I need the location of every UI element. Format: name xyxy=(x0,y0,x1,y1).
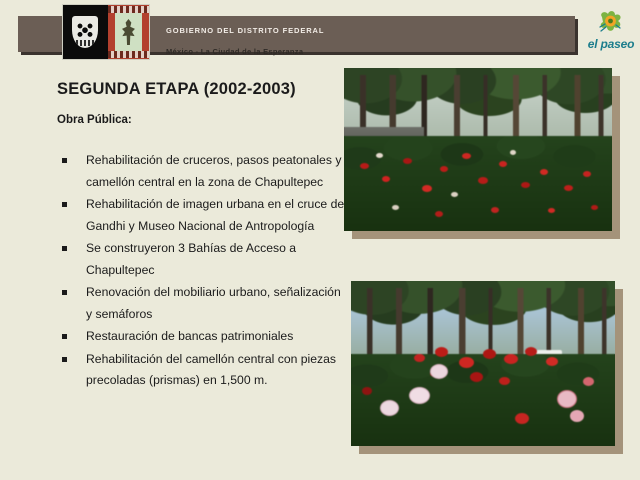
list-item: Rehabilitación del camellón central con … xyxy=(57,349,347,392)
square-bullet-icon xyxy=(62,158,67,163)
photo-geranium-closeup xyxy=(351,281,615,446)
list-item: Rehabilitación de cruceros, pasos peaton… xyxy=(57,150,347,193)
square-bullet-icon xyxy=(62,334,67,339)
square-bullet-icon xyxy=(62,246,67,251)
list-item-text: Restauración de bancas patrimoniales xyxy=(86,329,293,343)
el-paseo-wordmark: el paseo xyxy=(585,37,637,51)
flower-icon xyxy=(597,8,625,36)
section-label: Obra Pública: xyxy=(57,114,132,126)
list-item-text: Rehabilitación del camellón central con … xyxy=(86,352,336,388)
square-bullet-icon xyxy=(62,202,67,207)
header-title: GOBIERNO DEL DISTRITO FEDERAL xyxy=(166,26,324,35)
square-bullet-icon xyxy=(62,290,67,295)
el-paseo-logo: el paseo xyxy=(585,8,637,58)
list-item: Renovación del mobiliario urbano, señali… xyxy=(57,282,347,325)
list-item-text: Rehabilitación de imagen urbana en el cr… xyxy=(86,197,344,233)
list-item: Se construyeron 3 Bahías de Acceso a Cha… xyxy=(57,238,347,281)
list-item: Restauración de bancas patrimoniales xyxy=(57,326,347,348)
list-item: Rehabilitación de imagen urbana en el cr… xyxy=(57,194,347,237)
list-item-text: Se construyeron 3 Bahías de Acceso a Cha… xyxy=(86,241,296,277)
list-item-text: Rehabilitación de cruceros, pasos peaton… xyxy=(86,153,341,189)
bullet-list: Rehabilitación de cruceros, pasos peaton… xyxy=(57,150,347,393)
aztec-glyph-icon xyxy=(108,5,149,59)
square-bullet-icon xyxy=(62,357,67,362)
page-title: SEGUNDA ETAPA (2002-2003) xyxy=(57,80,296,99)
gobierno-df-emblem xyxy=(62,4,150,60)
mexico-city-shield-icon xyxy=(63,5,108,59)
photo-paseo-promenade-flowerbed xyxy=(344,68,612,231)
header-subtitle: México - La Ciudad de la Esperanza xyxy=(166,47,303,56)
list-item-text: Renovación del mobiliario urbano, señali… xyxy=(86,285,341,321)
